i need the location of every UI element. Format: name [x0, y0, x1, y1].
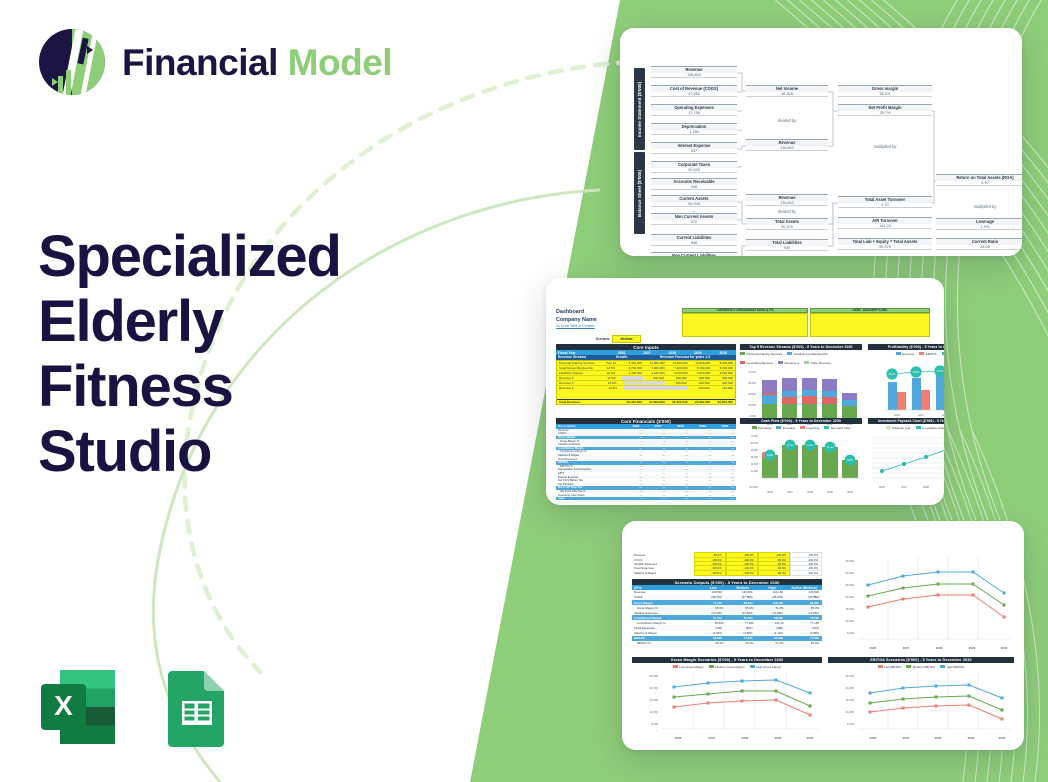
svg-text:2028: 2028: [923, 485, 929, 489]
chart-legend: Operating Investing Financing Net Cash F…: [740, 426, 862, 430]
svg-text:2027: 2027: [787, 490, 793, 494]
format-icons: X: [36, 665, 236, 749]
svg-text:10,000: 10,000: [845, 710, 854, 714]
svg-text:35,000: 35,000: [845, 559, 854, 563]
svg-text:(12,000): (12,000): [749, 486, 758, 489]
microsoft-excel-icon: X: [36, 665, 120, 749]
scenario-outputs-table[interactable]: Revenue109,530136,800164,180136,800COGS(…: [632, 590, 822, 646]
section-title-cash-flow: Cash Flow ($'000) - 5 Years to December …: [740, 418, 862, 424]
table-row: Gross Margin %65.0%65.0%71.0%65.0%: [632, 605, 822, 610]
svg-text:50.5%: 50.5%: [913, 371, 921, 374]
dashboard-company-name: Company Name: [556, 316, 676, 324]
table-row: Contribution Margin %48,59077,180101,307…: [632, 620, 822, 625]
tree-connectors: [634, 66, 1014, 256]
pie-chart-bars-logo-icon: [36, 26, 108, 98]
section-title-payback: Investment Payback Chart ($'000) - 5 Yea…: [868, 418, 944, 424]
table-row: Gross Margin71,63088,920118,19088,920: [632, 600, 822, 605]
svg-text:36,000: 36,000: [748, 381, 756, 385]
headline-line-3: Fitness: [38, 355, 458, 420]
gross-margin-scenarios-chart: 25,00020,000 15,00010,000 5,000-: [632, 669, 822, 741]
table-row: Contribution Margin57,71075,70098,63075,…: [632, 615, 822, 620]
headline-line-4: Studio: [38, 420, 458, 485]
svg-text:2030: 2030: [807, 736, 814, 740]
svg-text:5,000: 5,000: [651, 722, 658, 726]
scenario-col-headers: KPIs Low Medium High Active (Medium): [632, 585, 822, 589]
table-row: Revenue 6 12.5% 105,000 122,000: [557, 386, 735, 390]
chart-legend: Personal Training Services Small Group M…: [740, 352, 862, 365]
svg-text:2026: 2026: [870, 646, 877, 650]
panel-title-debt: DEBT ASSUMPTIONS: [810, 308, 930, 313]
svg-text:72,000: 72,000: [751, 435, 759, 438]
svg-text:2027: 2027: [903, 736, 910, 740]
section-title-profitability: Profitability ($'000) - 5 Years to Decem…: [868, 344, 944, 350]
svg-text:36,000: 36,000: [751, 456, 759, 459]
table-of-contents-link[interactable]: Go to the Table of Contents: [556, 324, 676, 328]
dashboard-title: Dashboard: [556, 308, 676, 316]
svg-text:2027: 2027: [918, 413, 924, 417]
svg-text:2029: 2029: [968, 736, 975, 740]
cash-flow-chart: 72,00060,000 48,00036,000 24,00012,000 -…: [740, 430, 862, 498]
svg-text:2028: 2028: [942, 413, 944, 417]
svg-text:2028: 2028: [742, 736, 749, 740]
svg-text:48,000: 48,000: [751, 449, 759, 452]
scenario-select[interactable]: Medium: [612, 335, 640, 343]
svg-text:56.2%: 56.2%: [889, 373, 897, 376]
svg-text:60,000: 60,000: [751, 442, 759, 445]
section-title-revenue-streams: Top 5 Revenue Streams ($'000) - 5 Years …: [740, 344, 862, 350]
table-row: EBITDA52,36577,33095,93077,330: [632, 636, 822, 641]
svg-text:20,000: 20,000: [845, 595, 854, 599]
svg-text:2030: 2030: [847, 490, 853, 494]
scenario-label: Scenario: [596, 337, 609, 341]
svg-text:X: X: [54, 690, 73, 721]
brand-word-model: Model: [288, 42, 392, 83]
svg-text:32,700: 32,700: [787, 445, 794, 447]
headline-line-2: Elderly: [38, 290, 458, 355]
svg-text:15,000: 15,000: [845, 698, 854, 702]
section-title-core-financials: Core Financials ($'000): [556, 418, 736, 424]
table-row: Salaries & Wages-105.0%-100.0%-95.0%-100…: [632, 571, 822, 575]
core-financials-table[interactable]: Revenue—————COGS—————Gross Margin—————Gr…: [556, 429, 736, 501]
svg-text:12,000: 12,000: [751, 470, 759, 473]
core-inputs-table[interactable]: Personal Training Services Year 10 9,420…: [556, 360, 736, 405]
svg-text:47.3%: 47.3%: [937, 370, 944, 373]
svg-text:20,000: 20,000: [649, 686, 658, 690]
svg-text:30,190: 30,190: [827, 447, 834, 449]
table-row: Cash—————: [556, 497, 736, 501]
brand-logo: Financial Model: [36, 26, 392, 98]
section-title-core-inputs: Core Inputs: [556, 344, 736, 350]
svg-text:8,070: 8,070: [847, 460, 853, 462]
svg-text:10,000: 10,000: [845, 619, 854, 623]
svg-text:2027: 2027: [901, 485, 907, 489]
svg-text:47,000: 47,000: [748, 370, 756, 374]
ebitda-scenarios-chart: 25,00020,000 15,00010,000 5,000-: [828, 669, 1014, 741]
svg-text:2028: 2028: [936, 646, 943, 650]
svg-text:30,000: 30,000: [845, 571, 854, 575]
section-title-gross-margin-scenarios: Gross Margin Scenarios ($'000) - 5 Years…: [632, 657, 822, 663]
svg-text:2026: 2026: [879, 485, 885, 489]
svg-text:15,000: 15,000: [649, 698, 658, 702]
scenario-analysis-screenshot[interactable]: Revenue80.0%100.0%120.0%100.0%COGS-105.0…: [622, 521, 1024, 750]
dashboard-screenshot[interactable]: Dashboard Company Name Go to the Table o…: [546, 278, 944, 505]
panel-title-currency: CURRENCY DENOMINATIONS & FX: [682, 308, 808, 313]
table-row: Fixed Expenses(700)(837)(580)(837): [632, 625, 822, 630]
table-row: EBITDA %60.1%52.0%57.0%52.0%: [632, 641, 822, 646]
svg-text:2029: 2029: [969, 646, 976, 650]
svg-text:14,000: 14,000: [748, 403, 756, 407]
svg-text:2026: 2026: [894, 413, 900, 417]
svg-text:20,000: 20,000: [845, 686, 854, 690]
table-row: Variable Expenses(13,190)(13,860)(13,860…: [632, 610, 822, 615]
svg-text:25,000: 25,000: [748, 392, 756, 396]
svg-text:2028: 2028: [807, 490, 813, 494]
svg-text:3,000: 3,000: [750, 414, 757, 418]
svg-text:8,000: 8,000: [767, 455, 773, 457]
svg-text:25,000: 25,000: [649, 674, 658, 678]
table-row: Salaries & Wages(4,840)(3,890)(2,120)(3,…: [632, 631, 822, 636]
core-inputs-col-headers: Fiscal Year 2026 2027 2028 2029 2030: [556, 350, 736, 354]
page-title: Specialized Elderly Fitness Studio: [38, 225, 458, 485]
svg-text:2027: 2027: [903, 646, 910, 650]
svg-text:25,000: 25,000: [845, 583, 854, 587]
profitability-chart: 56.2% 50.5% 47.3% 47.9% 55% 20262027 202…: [868, 356, 944, 419]
table-row: COGS(38,370)(47,880)(45,970)(47,880): [632, 595, 822, 600]
scenario-overview-chart: 35,00030,000 25,00020,000 15,00010,000 5…: [828, 553, 1014, 653]
svg-text:2026: 2026: [767, 490, 773, 494]
svg-text:-: -: [853, 638, 854, 642]
dupont-tree-screenshot[interactable]: Income Statement ($'000) Balance Sheet (…: [620, 28, 1022, 256]
core-inputs-total-row: Total Revenue 20,420,000 27,900,000 28,4…: [557, 399, 735, 404]
svg-text:2026: 2026: [675, 736, 682, 740]
svg-text:-: -: [853, 728, 854, 732]
headline-line-1: Specialized: [38, 225, 458, 290]
svg-text:5,000: 5,000: [847, 631, 854, 635]
svg-text:2028: 2028: [935, 736, 942, 740]
svg-text:2029: 2029: [827, 490, 833, 494]
scenario-assumptions-table[interactable]: Revenue80.0%100.0%120.0%100.0%COGS-105.0…: [632, 553, 822, 575]
section-title-ebitda-scenarios: EBITDA Scenarios ($'000) - 5 Years to De…: [828, 657, 1014, 663]
svg-text:2030: 2030: [1001, 646, 1008, 650]
svg-text:2027: 2027: [709, 736, 716, 740]
section-title-scenario-outputs: Scenario Outputs ($'000) - 5 Years to De…: [632, 579, 822, 585]
svg-text:5,000: 5,000: [847, 722, 854, 726]
svg-text:10,000: 10,000: [649, 710, 658, 714]
svg-text:25,000: 25,000: [845, 674, 854, 678]
core-inputs-group-headers: Revenue Streams Growth Revenue Forecast …: [556, 355, 736, 359]
google-sheets-icon: [152, 665, 236, 749]
svg-text:2029: 2029: [775, 736, 782, 740]
svg-text:-: -: [657, 728, 658, 732]
payback-chart: 72,00063,000 54,00045,000 36,00027,000 1…: [868, 430, 944, 498]
svg-text:-: -: [757, 477, 758, 480]
svg-text:24,000: 24,000: [751, 463, 759, 466]
svg-text:15,000: 15,000: [845, 607, 854, 611]
svg-text:32,950: 32,950: [807, 445, 814, 447]
brand-word-financial: Financial: [122, 42, 278, 83]
svg-text:2026: 2026: [870, 736, 877, 740]
svg-text:2030: 2030: [999, 736, 1006, 740]
table-row: Revenue109,530136,800164,180136,800: [632, 590, 822, 595]
